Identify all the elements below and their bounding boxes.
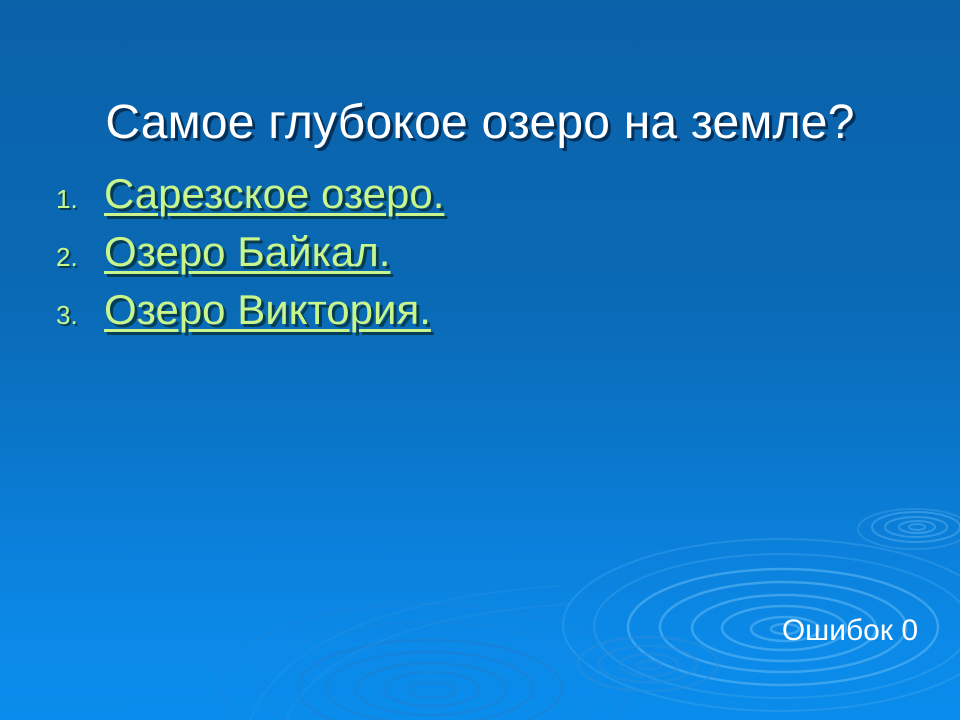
ripple-mid-center-outer bbox=[221, 604, 631, 720]
ripple-arc-left bbox=[250, 586, 572, 720]
errors-counter: Ошибок 0 bbox=[782, 614, 918, 648]
ripple-small-bottom-right bbox=[578, 637, 718, 691]
answer-number-1: 1. bbox=[48, 186, 104, 212]
answer-link-1[interactable]: Сарезское озеро. bbox=[104, 172, 444, 216]
answer-option-2[interactable]: 2. Озеро Байкал. bbox=[48, 230, 748, 288]
ripple-small-top-right bbox=[872, 512, 960, 542]
answer-list: 1. Сарезское озеро. 2. Озеро Байкал. 3. … bbox=[48, 172, 748, 346]
answer-option-3[interactable]: 3. Озеро Виктория. bbox=[48, 288, 748, 346]
answer-option-1[interactable]: 1. Сарезское озеро. bbox=[48, 172, 748, 230]
ripple-small-top-right-outer bbox=[858, 509, 960, 549]
answer-link-3[interactable]: Озеро Виктория. bbox=[104, 288, 431, 332]
answer-number-3: 3. bbox=[48, 302, 104, 328]
quiz-slide: Самое глубокое озеро на земле? 1. Сарезс… bbox=[0, 0, 960, 720]
question-title: Самое глубокое озеро на земле? bbox=[0, 94, 960, 152]
answer-link-2[interactable]: Озеро Байкал. bbox=[104, 230, 390, 274]
ripple-mid-center bbox=[298, 640, 562, 720]
answer-number-2: 2. bbox=[48, 244, 104, 270]
